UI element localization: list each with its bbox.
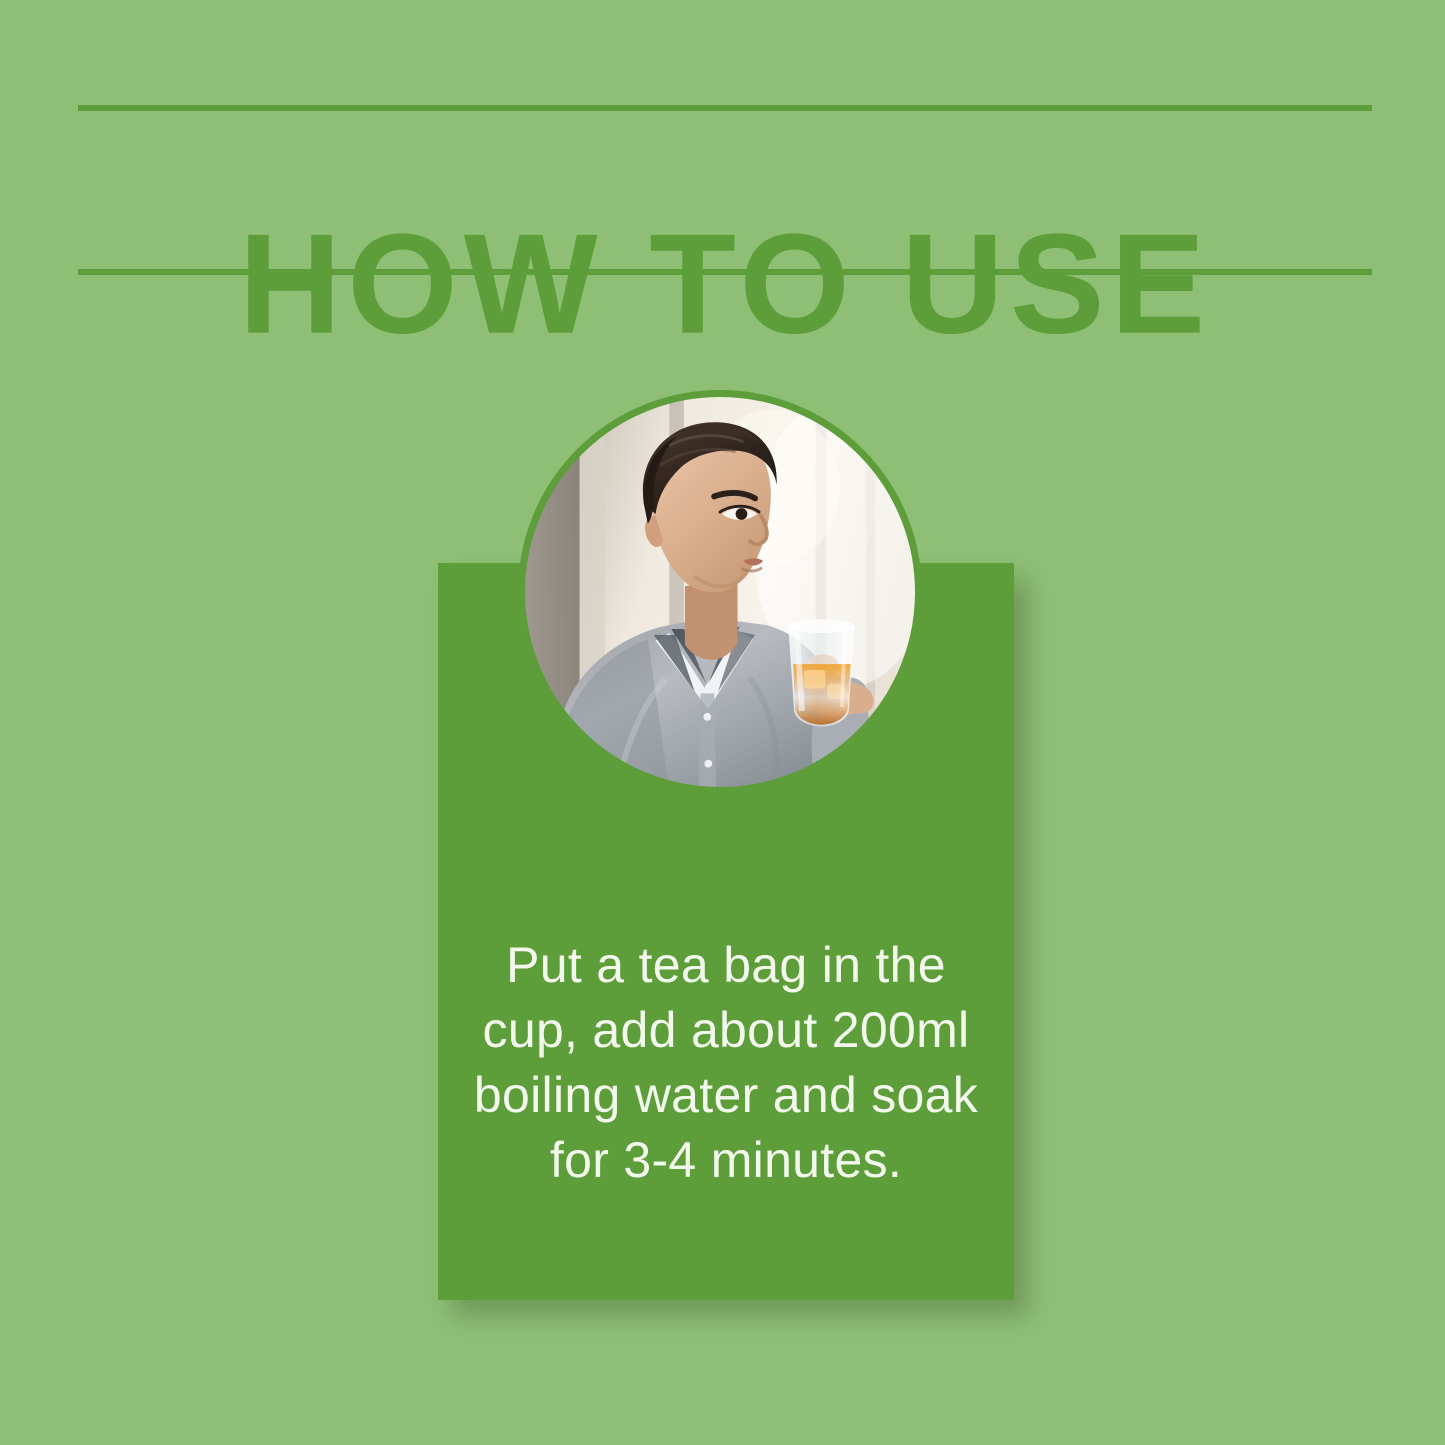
page-title: HOW TO USE bbox=[78, 213, 1372, 358]
poster-canvas: HOW TO USE Put a tea bag in the cup, add… bbox=[0, 0, 1445, 1445]
header-block: HOW TO USE bbox=[78, 105, 1372, 275]
divider-line-bottom-icon bbox=[78, 269, 1372, 275]
photo-illustration-icon bbox=[523, 395, 917, 789]
divider-line-top-icon bbox=[78, 105, 1372, 111]
avatar bbox=[518, 390, 922, 794]
avatar-image bbox=[523, 395, 917, 789]
instruction-text: Put a tea bag in the cup, add about 200m… bbox=[468, 933, 984, 1193]
